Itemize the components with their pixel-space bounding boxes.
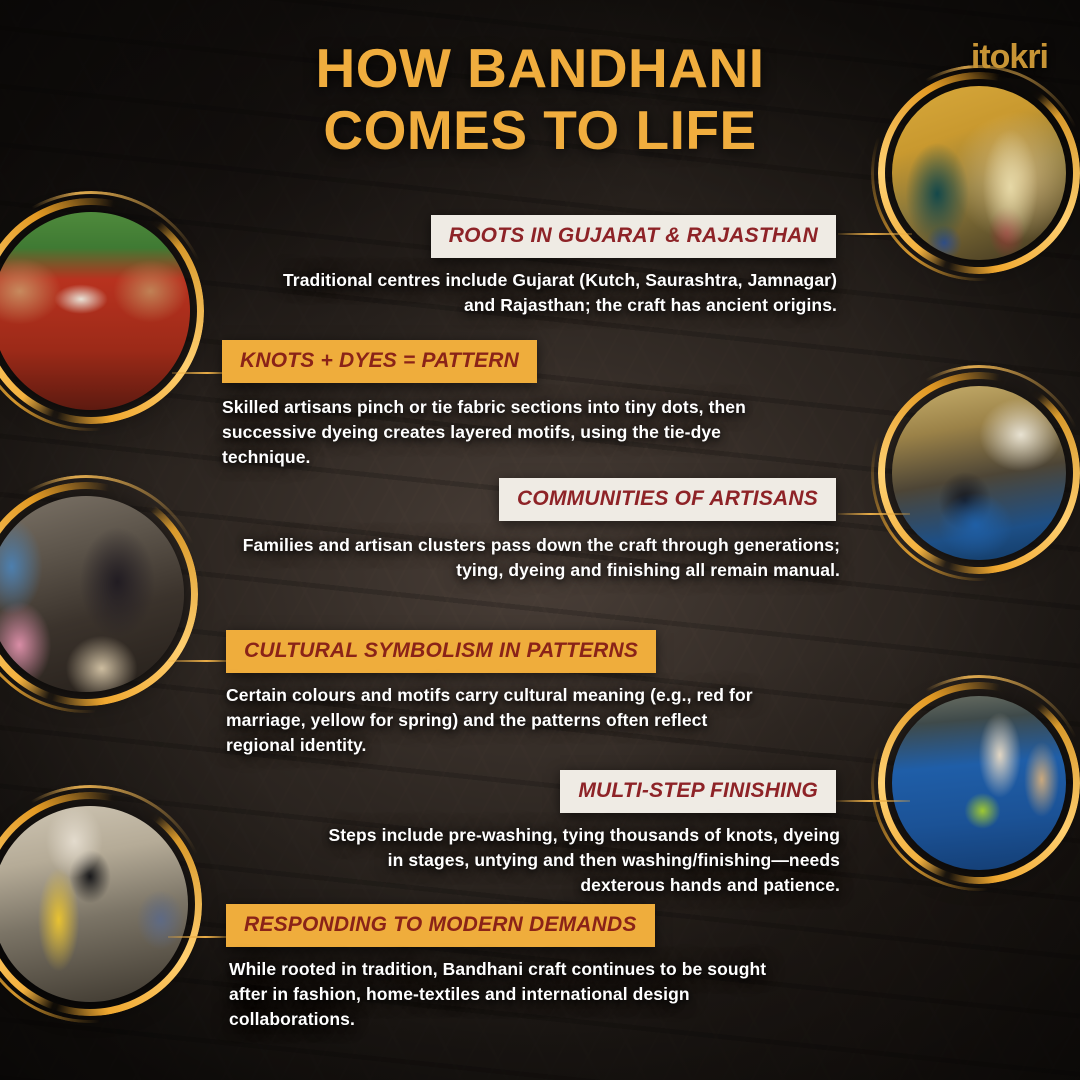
section-heading-3[interactable]: COMMUNITIES OF ARTISANS	[499, 478, 836, 521]
photo-hands-tying-red-fabric	[0, 198, 204, 424]
section-body-2: Skilled artisans pinch or tie fabric sec…	[222, 395, 752, 470]
section-heading-2[interactable]: KNOTS + DYES = PATTERN	[222, 340, 537, 383]
section-heading-1[interactable]: ROOTS IN GUJARAT & RAJASTHAN	[431, 215, 836, 258]
title-line-2: COMES TO LIFE	[0, 100, 1080, 162]
section-body-5: Steps include pre-washing, tying thousan…	[322, 823, 840, 898]
photo-image	[0, 212, 190, 410]
photo-image	[892, 386, 1066, 560]
section-body-4: Certain colours and motifs carry cultura…	[226, 683, 771, 758]
section-body-3: Families and artisan clusters pass down …	[238, 533, 840, 583]
photo-image	[892, 696, 1066, 870]
photo-artisan-lifting-yellow-cloth	[0, 792, 202, 1016]
page-title: HOW BANDHANI COMES TO LIFE	[0, 38, 1080, 161]
connector-line-1	[838, 233, 912, 235]
section-body-6: While rooted in tradition, Bandhani craf…	[229, 957, 789, 1032]
photo-image	[0, 806, 188, 1002]
photo-image	[0, 496, 184, 692]
section-heading-4[interactable]: CULTURAL SYMBOLISM IN PATTERNS	[226, 630, 656, 673]
section-heading-6[interactable]: RESPONDING TO MODERN DEMANDS	[226, 904, 655, 947]
photo-fabric-in-indigo-dye	[878, 682, 1080, 884]
photo-artisan-dyeing-blue-vat	[878, 372, 1080, 574]
connector-line-5	[836, 800, 910, 802]
section-body-1: Traditional centres include Gujarat (Kut…	[271, 268, 837, 318]
section-heading-5[interactable]: MULTI-STEP FINISHING	[560, 770, 836, 813]
title-line-1: HOW BANDHANI	[315, 37, 764, 99]
connector-line-3	[838, 513, 910, 515]
photo-women-knotting-cloth	[0, 482, 198, 706]
brand-logo[interactable]: itokri	[971, 38, 1048, 77]
infographic-poster: HOW BANDHANI COMES TO LIFE itokri	[0, 0, 1080, 1080]
